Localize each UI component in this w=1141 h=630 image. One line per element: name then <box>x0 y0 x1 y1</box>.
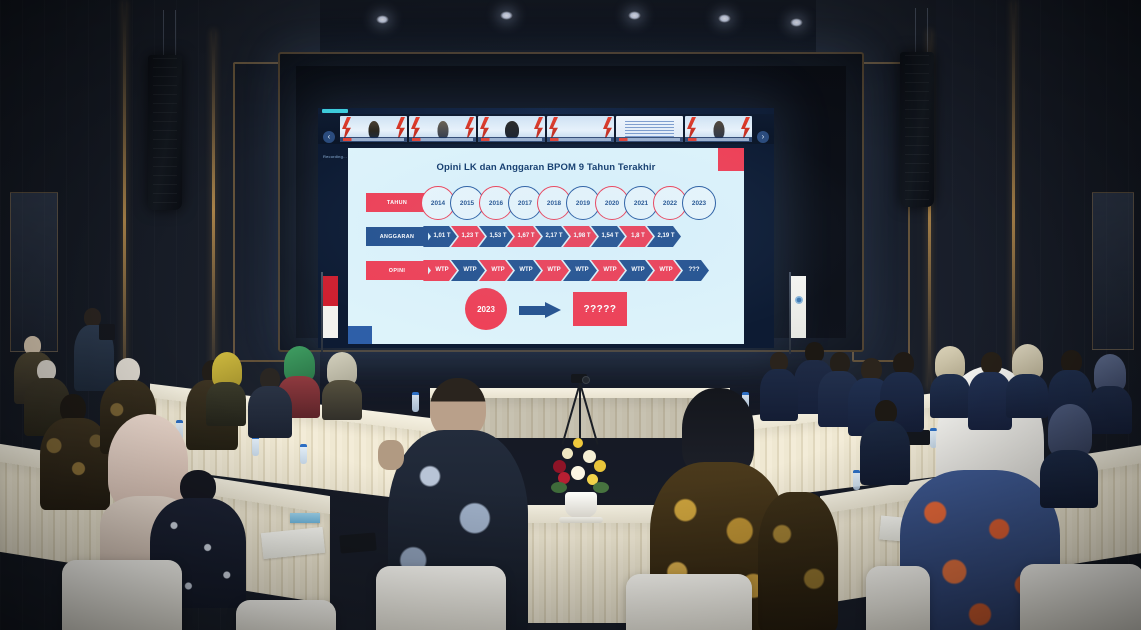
vc-participant-tile[interactable] <box>340 116 407 142</box>
person-body <box>206 382 246 426</box>
slide-rows: TAHUN 2014 2015 2016 2017 2018 2019 2020… <box>366 186 730 288</box>
slide-summary: 2023 ????? <box>348 288 744 330</box>
vc-next-arrow-icon[interactable]: › <box>757 131 769 143</box>
person-body-uniform <box>930 374 970 418</box>
handheld-camera <box>99 324 115 340</box>
arrow-right-icon <box>519 302 561 317</box>
person-body-uniform <box>860 421 910 485</box>
row-label-anggaran: ANGGARAN <box>366 227 428 246</box>
attendee-hijab <box>1006 344 1048 410</box>
deck-status-label: Recording... <box>323 154 347 159</box>
person-body-uniform <box>760 369 798 421</box>
side-window-right <box>1092 192 1134 350</box>
attendee <box>758 492 838 630</box>
budget-chevron: 1,01 T <box>423 226 457 247</box>
water-bottle <box>300 444 307 464</box>
year-circle: 2023 <box>682 186 716 220</box>
flower-bloom <box>594 460 606 472</box>
opinion-chevron-group: WTP WTP WTP WTP WTP WTP WTP WTP WTP ??? <box>423 260 709 281</box>
flower-vase <box>565 492 597 518</box>
vc-prev-arrow-icon[interactable]: ‹ <box>323 131 335 143</box>
side-window-left <box>10 192 58 352</box>
person-body-batik <box>758 492 838 630</box>
chair-back <box>626 574 752 630</box>
video-conference-tile-strip[interactable]: ‹ <box>318 114 774 144</box>
slide-row-opini: OPINI WTP WTP WTP WTP WTP WTP WTP WTP WT… <box>366 254 730 288</box>
conference-room-scene: ‹ <box>0 0 1141 630</box>
gold-trim <box>212 30 215 390</box>
summary-result-box: ????? <box>573 292 627 326</box>
led-wall-screen[interactable]: ‹ <box>318 108 774 348</box>
row-label-opini: OPINI <box>366 261 428 280</box>
vc-participant-tile[interactable] <box>547 116 614 142</box>
person-body <box>248 386 292 438</box>
participant-name-bar <box>340 137 407 142</box>
presentation-deck-area[interactable]: Recording... Opini LK dan Anggaran BPOM … <box>318 144 774 348</box>
attendee <box>760 352 798 414</box>
attendee-hijab <box>206 352 246 418</box>
water-bottle <box>853 470 860 490</box>
budget-chevron-group: 1,01 T 1,23 T 1,53 T 1,67 T 2,17 T 1,98 … <box>423 226 681 247</box>
attendee <box>248 368 292 430</box>
downlight-icon <box>376 15 389 24</box>
indonesia-flag <box>318 272 340 352</box>
summary-year-circle: 2023 <box>465 288 507 330</box>
attendee <box>860 400 910 478</box>
flower-bloom <box>571 466 585 480</box>
participant-name-bar <box>685 137 752 142</box>
chair-back <box>62 560 182 630</box>
vc-participant-tile[interactable] <box>685 116 752 142</box>
notebook <box>290 513 320 523</box>
vc-participant-tile[interactable] <box>478 116 545 142</box>
chair-back <box>866 566 930 630</box>
flower-leaf <box>593 482 609 493</box>
slide-row-anggaran: ANGGARAN 1,01 T 1,23 T 1,53 T 1,67 T 2,1… <box>366 220 730 254</box>
chair-back <box>1020 564 1141 630</box>
line-array-speaker-left <box>148 55 182 210</box>
person-body-uniform <box>1040 450 1098 508</box>
slide-title: Opini LK dan Anggaran BPOM 9 Tahun Terak… <box>348 162 744 173</box>
participant-name-bar <box>409 137 476 142</box>
line-array-speaker-right <box>900 52 934 207</box>
downlight-icon <box>500 11 513 20</box>
flower-arrangement <box>549 432 613 518</box>
downlight-icon <box>790 18 803 27</box>
shared-document-preview <box>625 121 673 137</box>
flower-leaf <box>551 482 567 493</box>
person-hand <box>378 440 404 470</box>
slide-row-tahun: TAHUN 2014 2015 2016 2017 2018 2019 2020… <box>366 186 730 220</box>
participant-name-bar <box>616 137 683 142</box>
camera-icon <box>571 374 587 383</box>
year-circle-group: 2014 2015 2016 2017 2018 2019 2020 2021 … <box>421 186 716 220</box>
water-bottle <box>252 436 259 456</box>
attendee-hijab <box>322 352 362 412</box>
opinion-chevron: WTP <box>423 260 457 281</box>
attendee-hijab <box>930 346 970 410</box>
flower-bloom <box>573 438 583 448</box>
vc-participant-tile[interactable] <box>409 116 476 142</box>
attendee-hijab <box>1040 404 1098 500</box>
row-label-tahun: TAHUN <box>366 193 428 212</box>
presentation-slide[interactable]: Opini LK dan Anggaran BPOM 9 Tahun Terak… <box>348 148 744 344</box>
vc-app-tag <box>322 109 348 113</box>
flower-bloom <box>562 448 573 459</box>
downlight-icon <box>628 11 641 20</box>
chair-back <box>376 566 506 630</box>
vc-screenshare-tile[interactable] <box>616 116 683 142</box>
participant-name-bar <box>478 137 545 142</box>
chair-back <box>236 600 336 630</box>
tablet-device <box>339 532 376 553</box>
participant-name-bar <box>547 137 614 142</box>
person-body <box>322 380 362 420</box>
flower-bloom <box>583 450 596 463</box>
downlight-icon <box>718 14 731 23</box>
